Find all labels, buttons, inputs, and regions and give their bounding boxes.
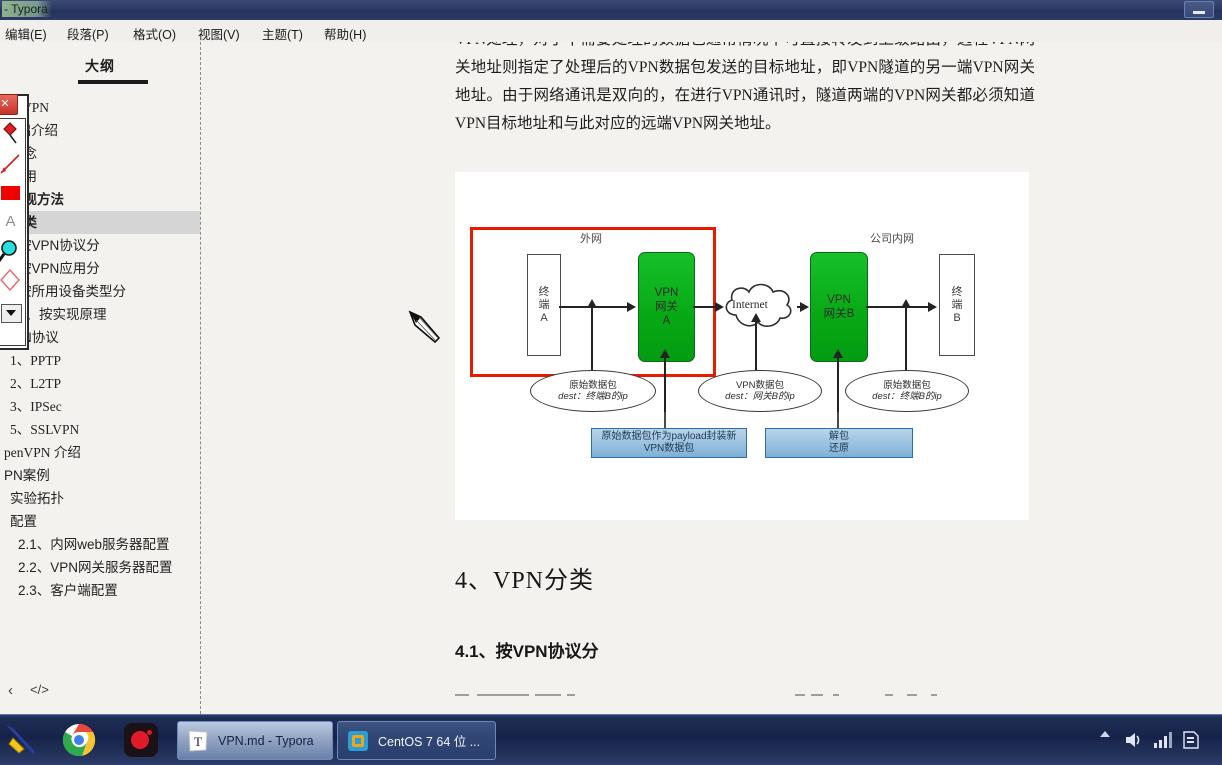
process-box-decapsulate: 解包 还原 <box>765 428 913 458</box>
vmware-icon <box>346 729 370 753</box>
partial-text-seg-5 <box>795 694 805 696</box>
outline-item-5[interactable]: 实现方法 <box>0 188 200 211</box>
outline-item-16[interactable]: penVPN 介绍 <box>0 441 200 464</box>
pencil-cursor <box>406 308 446 350</box>
menubar: 编辑(E)段落(P)格式(O)视图(V)主题(T)帮助(H) <box>0 20 1222 43</box>
process-box-decapsulate-line2: 还原 <box>829 443 849 455</box>
outline-item-2[interactable]: 基础介绍 <box>0 119 200 142</box>
volume-icon[interactable] <box>1124 731 1144 749</box>
arrow-callout3-up <box>905 308 907 372</box>
outline-item-15[interactable]: 5、SSLVPN <box>0 418 200 441</box>
arrow-callout1-up <box>591 308 593 372</box>
vpn-gateway-a-box: VPN 网关 A <box>638 252 695 362</box>
outline-item-12[interactable]: 1、PPTP <box>0 349 200 372</box>
show-hidden-icons-arrow-icon[interactable] <box>1100 731 1110 737</box>
outline-item-13[interactable]: 2、L2TP <box>0 372 200 395</box>
outline-item-9[interactable]: 按所用设备类型分 <box>0 280 200 303</box>
outline-item-10[interactable]: 4、按实现原理 <box>0 303 200 326</box>
outline-item-21[interactable]: 2.2、VPN网关服务器配置 <box>0 556 200 579</box>
outline-item-3[interactable]: 概念 <box>0 142 200 165</box>
close-icon[interactable]: ✕ <box>0 94 18 115</box>
typora-icon: T <box>186 729 210 753</box>
text-tool-icon[interactable]: A <box>0 208 25 236</box>
partial-text-seg-8 <box>885 694 893 696</box>
vpn-gw-b-line2: 网关B <box>824 307 855 321</box>
document-pane[interactable]: VPN处理，对于不需要处理的数据包通常情况下可直接转发到上级路由，远程VPN网关… <box>201 42 1222 714</box>
zone-label-internal: 公司内网 <box>870 230 914 246</box>
taskbar-item-centos-label: CentOS 7 64 位 ... <box>378 731 480 750</box>
outline-item-20[interactable]: 2.1、内网web服务器配置 <box>0 533 200 556</box>
minimize-button[interactable] <box>1184 1 1214 18</box>
magnifier-tool-icon[interactable] <box>0 237 25 265</box>
terminal-b-line1: 终 <box>952 286 963 299</box>
heading-vpn-classification: 4、VPN分类 <box>455 560 594 595</box>
terminal-a-line2: 端 <box>539 299 550 312</box>
menu-item-3[interactable]: 格式(O) <box>128 23 181 43</box>
network-diagram-figure: 外网 公司内网 终 端 A VPN 网关 A <box>455 172 1029 520</box>
callout3-line1: 原始数据包 <box>883 380 931 392</box>
partial-text-seg-9 <box>907 694 917 696</box>
partial-text-row <box>455 690 1029 700</box>
outline-item-8[interactable]: 按VPN应用分 <box>0 257 200 280</box>
partial-text-seg-6 <box>811 694 823 696</box>
terminal-b-line2: 端 <box>952 299 963 312</box>
outline-item-17[interactable]: PN案例 <box>0 464 200 487</box>
menu-item-2[interactable]: 段落(P) <box>62 23 114 43</box>
callout-vpn-packet: VPN数据包 dest：网关B的ip <box>698 370 822 412</box>
taskbar-item-typora[interactable]: T VPN.md - Typora <box>177 721 333 760</box>
partial-text-seg-1 <box>455 694 469 696</box>
menu-item-4[interactable]: 视图(V) <box>193 23 245 43</box>
network-signal-icon[interactable] <box>1152 731 1172 749</box>
callout-original-packet-left: 原始数据包 dest：终端B的ip <box>530 370 656 412</box>
outline-item-6[interactable]: 分类 <box>0 211 200 234</box>
sidebar-back-icon[interactable]: ‹ <box>8 682 13 699</box>
arrow-gw-b-to-terminal-b <box>866 306 928 308</box>
windows-taskbar: T VPN.md - Typora CentOS 7 64 位 ... <box>0 714 1222 765</box>
source-code-mode-icon[interactable]: </> <box>30 682 49 697</box>
zone-label-external: 外网 <box>580 230 602 246</box>
action-center-icon[interactable] <box>1182 731 1200 749</box>
callout3-line2: dest：终端B的ip <box>872 391 942 403</box>
pen-icon[interactable] <box>2 721 40 759</box>
outline-item-1[interactable]: 络-VPN <box>0 96 200 119</box>
arrow-gw-a-to-internet <box>693 306 715 308</box>
outline-item-4[interactable]: 作用 <box>0 165 200 188</box>
callout-original-packet-right: 原始数据包 dest：终端B的ip <box>845 370 969 412</box>
pen-tool-icon[interactable] <box>0 121 25 149</box>
internet-label: Internet <box>732 299 768 311</box>
partial-text-seg-4 <box>567 694 575 696</box>
window-title: - Typora <box>2 1 52 17</box>
menu-item-6[interactable]: 帮助(H) <box>319 23 371 43</box>
sidebar-footer: ‹ </> <box>0 682 200 706</box>
vpn-gw-a-line1: VPN <box>655 286 679 300</box>
window-titlebar: - Typora <box>0 0 1222 20</box>
line-tool-icon[interactable] <box>0 150 25 178</box>
taskbar-item-centos[interactable]: CentOS 7 64 位 ... <box>337 721 496 760</box>
taskbar-item-typora-label: VPN.md - Typora <box>218 734 314 748</box>
vpn-gw-b-line1: VPN <box>824 293 855 307</box>
annotation-toolbar[interactable]: ✕ A <box>0 94 29 350</box>
callout2-line1: VPN数据包 <box>736 380 784 392</box>
svg-text:T: T <box>194 734 202 749</box>
filled-rect-tool-icon[interactable] <box>0 179 25 207</box>
partial-text-seg-2 <box>477 694 529 696</box>
terminal-a-line3: A <box>539 312 550 325</box>
terminal-b-box: 终 端 B <box>939 254 975 356</box>
outline-shape-tool-icon[interactable] <box>0 266 25 294</box>
arrow-callout2-up <box>755 322 757 374</box>
vpn-gw-a-line2: 网关 <box>655 300 679 314</box>
terminal-b-line3: B <box>952 312 963 325</box>
outline-item-18[interactable]: 实验拓扑 <box>0 487 200 510</box>
more-tools-dropdown-icon[interactable] <box>0 299 25 327</box>
process-box-encapsulate: 原始数据包作为payload封装新VPN数据包 <box>591 428 747 458</box>
callout2-line2: dest：网关B的ip <box>725 391 795 403</box>
process-box-encapsulate-label: 原始数据包作为payload封装新VPN数据包 <box>596 431 742 455</box>
annotation-tool-list: A <box>0 118 26 346</box>
typora-window: 大纲 络-VPN基础介绍概念作用实现方法分类按VPN协议分按VPN应用分按所用设… <box>0 42 1222 714</box>
outline-list: 络-VPN基础介绍概念作用实现方法分类按VPN协议分按VPN应用分按所用设备类型… <box>0 96 200 602</box>
terminal-a-line1: 终 <box>539 286 550 299</box>
outline-item-7[interactable]: 按VPN协议分 <box>0 234 200 257</box>
vpn-gateway-b-box: VPN 网关B <box>810 252 868 362</box>
document-paragraph: VPN处理，对于不需要处理的数据包通常情况下可直接转发到上级路由，远程VPN网关… <box>455 42 1035 138</box>
outline-item-19[interactable]: 配置 <box>0 510 200 533</box>
partial-text-seg-10 <box>931 694 937 696</box>
menu-item-1[interactable]: 编辑(E) <box>0 23 52 43</box>
callout1-line1: 原始数据包 <box>569 380 617 392</box>
outline-item-14[interactable]: 3、IPSec <box>0 395 200 418</box>
terminal-a-box: 终 端 A <box>527 254 561 356</box>
heading-by-vpn-protocol: 4.1、按VPN协议分 <box>455 637 599 662</box>
menu-item-5[interactable]: 主题(T) <box>257 23 308 43</box>
outline-title-rule <box>78 80 148 84</box>
arrow-internet-to-gw-b <box>797 306 800 308</box>
outline-sidebar: 大纲 络-VPN基础介绍概念作用实现方法分类按VPN协议分按VPN应用分按所用设… <box>0 42 201 714</box>
partial-text-seg-3 <box>535 694 561 696</box>
recorder-icon[interactable] <box>122 721 160 759</box>
process-box-decapsulate-line1: 解包 <box>829 431 849 443</box>
outline-item-22[interactable]: 2.3、客户端配置 <box>0 579 200 602</box>
callout1-line2: dest：终端B的ip <box>558 391 628 403</box>
outline-item-11[interactable]: VPN协议 <box>0 326 200 349</box>
outline-panel-title: 大纲 <box>0 56 200 76</box>
vpn-gw-a-line3: A <box>655 314 679 328</box>
chrome-icon[interactable] <box>60 721 98 759</box>
partial-text-seg-7 <box>833 694 839 696</box>
